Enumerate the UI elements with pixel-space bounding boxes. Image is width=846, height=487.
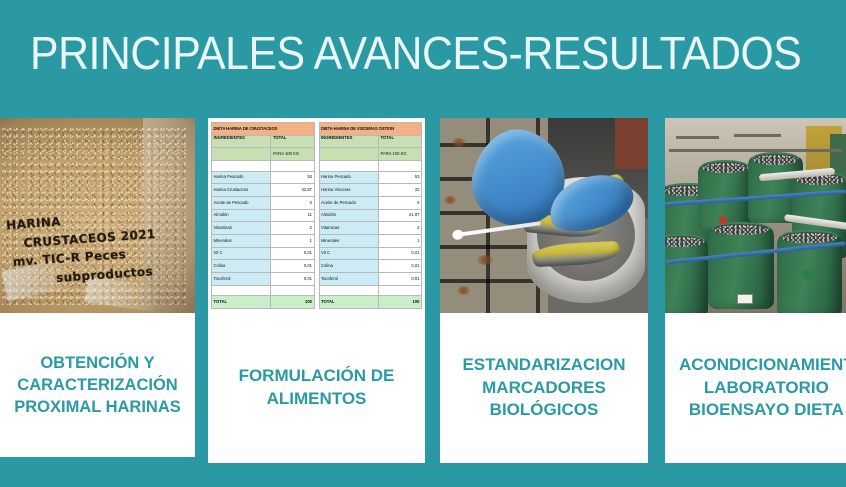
table-row: Almidón21,97: [319, 209, 422, 222]
total-label: TOTAL: [212, 296, 271, 309]
ingredient-name: Vit C: [319, 247, 378, 260]
caption-text-2: FORMULACIÓN DE ALIMENTOS: [233, 365, 401, 411]
table-row: Harina Crustaceos32,87: [212, 184, 315, 197]
header-para-100-kg: PARA 100 KG: [271, 148, 314, 161]
lab-scene-4: [665, 118, 846, 313]
ingredient-name: Colina: [212, 260, 271, 273]
presentation-slide: PRINCIPALES AVANCES-RESULTADOS HARINA CR…: [0, 0, 846, 487]
table-title-row: DIETA HARINA DE CRUSTACEOS: [212, 123, 315, 136]
caption-card-3: ESTANDARIZACION MARCADORES BIOLÓGICOS: [440, 313, 648, 463]
ingredient-name: Vitaminas: [212, 222, 271, 235]
header-total: TOTAL: [378, 135, 421, 148]
ingredient-value: 2: [378, 222, 421, 235]
rust-stain: [477, 255, 493, 265]
table-row: Tocoferol0,01: [212, 272, 315, 285]
table-header-row-2: PARA 100 KG: [319, 148, 422, 161]
table-row: Vitaminas2: [319, 222, 422, 235]
tank-contents: [714, 225, 769, 235]
rust-stain: [452, 138, 466, 147]
caption-text-4: ACONDICIONAMIENT LABORATORIO BIOENSAYO D…: [673, 354, 846, 423]
slide-title-bar: PRINCIPALES AVANCES-RESULTADOS: [0, 0, 846, 105]
lab-scene-3: [440, 118, 648, 313]
caption-2-line-2: ALIMENTOS: [239, 388, 395, 411]
table-total-row: TOTAL 100: [212, 296, 315, 309]
overhead-rack-bar: [676, 136, 719, 139]
white-label-tag: [737, 294, 753, 304]
table-header-row-2: PARA 100 KG: [212, 148, 315, 161]
page-title: PRINCIPALES AVANCES-RESULTADOS: [30, 30, 801, 76]
ingredient-value: 32,87: [271, 184, 314, 197]
ingredient-name: Harina Visceras: [319, 184, 378, 197]
blank-cell-c: [319, 285, 378, 296]
rust-stain: [457, 286, 470, 295]
ingredient-name: Vitaminas: [319, 222, 378, 235]
header-para-100-kg: PARA 100 KG: [378, 148, 421, 161]
ingredient-value: 1: [271, 234, 314, 247]
ingredient-value: 0,01: [378, 260, 421, 273]
ingredient-value: 0,01: [378, 247, 421, 260]
table-blank-row: [319, 285, 422, 296]
table-total-row: TOTAL 100: [319, 296, 422, 309]
blank-cell-d: [271, 285, 314, 296]
caption-1-line-3: PROXIMAL HARINAS: [14, 396, 181, 418]
caption-card-4: ACONDICIONAMIENT LABORATORIO BIOENSAYO D…: [665, 313, 846, 463]
table-row: Vitaminas2: [212, 222, 315, 235]
ingredient-name: Colina: [319, 260, 378, 273]
table-row: Vit C0,01: [212, 247, 315, 260]
caption-3-line-3: BIOLÓGICOS: [462, 399, 625, 422]
total-value: 100: [271, 296, 314, 309]
table-title-cell: DIETA HARINA DE CRUSTACEOS: [212, 123, 315, 136]
header-ingredientes: INGREDIENTES: [319, 135, 378, 148]
blank-cell-a: [319, 161, 378, 172]
caption-3-line-2: MARCADORES: [462, 377, 625, 400]
blank-cell-c: [212, 285, 271, 296]
ingredient-value: 0: [271, 196, 314, 209]
ingredient-name: Aceite de Pescado: [319, 196, 378, 209]
caption-card-2: FORMULACIÓN DE ALIMENTOS: [208, 313, 425, 463]
ingredient-name: Almidón: [319, 209, 378, 222]
ingredient-value: 22: [378, 184, 421, 197]
ingredient-value: 0: [378, 196, 421, 209]
blank-cell-d: [378, 285, 421, 296]
table-title-row: DIETA HARINA DE VISCERAS OSTION: [319, 123, 422, 136]
diet-table-crustaceos: DIETA HARINA DE CRUSTACEOS INGREDIENTES …: [211, 122, 315, 309]
ingredient-name: Harina Pescado: [319, 171, 378, 184]
ingredient-name: Aceite de Pescado: [212, 196, 271, 209]
green-marker-tag: [803, 270, 813, 279]
caption-1-line-1: OBTENCIÓN Y: [14, 352, 181, 374]
total-label: TOTAL: [319, 296, 378, 309]
table-row: Harina Pescado53: [212, 171, 315, 184]
table-row: Almidón11: [212, 209, 315, 222]
header-spacer: [319, 148, 378, 161]
culture-tank: [665, 239, 708, 313]
tank-contents: [782, 233, 837, 243]
ingredient-value: 11: [271, 209, 314, 222]
content-column-2: DIETA HARINA DE CRUSTACEOS INGREDIENTES …: [208, 118, 425, 463]
ingredient-name: Vit C: [212, 247, 271, 260]
tank-contents: [753, 155, 799, 165]
ingredient-value: 53: [378, 171, 421, 184]
ingredient-name: Minerales: [212, 234, 271, 247]
content-column-3: ESTANDARIZACION MARCADORES BIOLÓGICOS: [440, 118, 648, 463]
feed-formulation-spreadsheet-photo: DIETA HARINA DE CRUSTACEOS INGREDIENTES …: [208, 118, 425, 313]
table-row: Tocoferol0,01: [319, 272, 422, 285]
biological-markers-sampling-photo: [440, 118, 648, 313]
caption-text-3: ESTANDARIZACION MARCADORES BIOLÓGICOS: [456, 354, 631, 423]
header-total: TOTAL: [271, 135, 314, 148]
ingredient-value: 1: [378, 234, 421, 247]
ingredient-value: 0,01: [271, 247, 314, 260]
header-ingredientes: INGREDIENTES: [212, 135, 271, 148]
caption-4-line-3: BIOENSAYO DIETA: [679, 399, 846, 422]
tank-contents: [702, 163, 748, 173]
caption-1-line-2: CARACTERIZACIÓN: [14, 374, 181, 396]
ingredient-value: 21,97: [378, 209, 421, 222]
diet-table-visceras-ostion: DIETA HARINA DE VISCERAS OSTION INGREDIE…: [319, 122, 423, 309]
ingredient-value: 0,01: [378, 272, 421, 285]
table-row: Minerales1: [212, 234, 315, 247]
ingredient-value: 0,01: [271, 272, 314, 285]
table-blank-row: [212, 285, 315, 296]
table-row: Aceite de Pescado0: [212, 196, 315, 209]
caption-3-line-1: ESTANDARIZACION: [462, 354, 625, 377]
caption-text-1: OBTENCIÓN Y CARACTERIZACIÓN PROXIMAL HAR…: [8, 352, 187, 419]
spreadsheet-sheet: DIETA HARINA DE CRUSTACEOS INGREDIENTES …: [208, 118, 425, 313]
tank-contents: [665, 237, 704, 247]
ingredient-name: Minerales: [319, 234, 378, 247]
overhead-rack-bar: [734, 134, 781, 137]
table-row: Minerales1: [319, 234, 422, 247]
overhead-rack-bar: [669, 149, 843, 152]
table-row: Colina0,01: [212, 260, 315, 273]
ingredient-name: Tocoferol: [212, 272, 271, 285]
table-blank-row: [212, 161, 315, 172]
caption-card-1: OBTENCIÓN Y CARACTERIZACIÓN PROXIMAL HAR…: [0, 313, 195, 457]
ingredient-value: 0,01: [271, 260, 314, 273]
table-row: Colina0,01: [319, 260, 422, 273]
red-wall-patch: [615, 118, 648, 169]
table-blank-row: [319, 161, 422, 172]
table-title-cell: DIETA HARINA DE VISCERAS OSTION: [319, 123, 422, 136]
table-header-row: INGREDIENTES TOTAL: [319, 135, 422, 148]
table-header-row: INGREDIENTES TOTAL: [212, 135, 315, 148]
content-column-1: HARINA CRUSTACEOS 2021 mv. TIC-R Peces s…: [0, 118, 195, 457]
caption-2-line-1: FORMULACIÓN DE: [239, 365, 395, 388]
ingredient-value: 53: [271, 171, 314, 184]
total-value: 100: [378, 296, 421, 309]
laboratory-bioassay-tanks-photo: [665, 118, 846, 313]
ingredient-name: Almidón: [212, 209, 271, 222]
table-row: Harina Visceras22: [319, 184, 422, 197]
ingredient-value: 2: [271, 222, 314, 235]
header-spacer: [212, 148, 271, 161]
table-row: Aceite de Pescado0: [319, 196, 422, 209]
content-column-4: ACONDICIONAMIENT LABORATORIO BIOENSAYO D…: [665, 118, 846, 463]
ingredient-name: Harina Pescado: [212, 171, 271, 184]
handwritten-label: HARINA CRUSTACEOS 2021 mv. TIC-R Peces s…: [6, 204, 191, 291]
blank-cell-b: [378, 161, 421, 172]
ingredient-name: Tocoferol: [319, 272, 378, 285]
table-row: Vit C0,01: [319, 247, 422, 260]
crustacean-flour-bag-photo: HARINA CRUSTACEOS 2021 mv. TIC-R Peces s…: [0, 118, 195, 313]
red-marker-tag: [719, 216, 727, 224]
ingredient-name: Harina Crustaceos: [212, 184, 271, 197]
blank-cell-b: [271, 161, 314, 172]
caption-4-line-1: ACONDICIONAMIENT: [679, 354, 846, 377]
caption-4-line-2: LABORATORIO: [679, 377, 846, 400]
blank-cell-a: [212, 161, 271, 172]
table-row: Harina Pescado53: [319, 171, 422, 184]
